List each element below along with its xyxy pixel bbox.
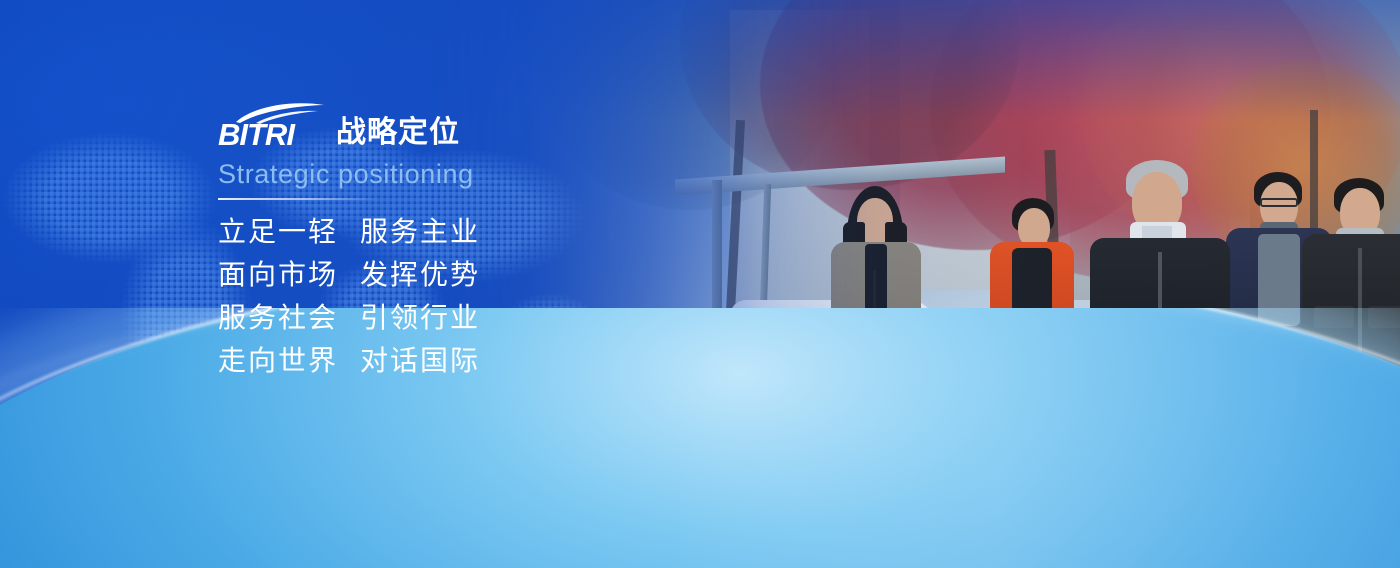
slogan-right: 引领行业 [360, 304, 480, 332]
slogan-left: 立足一轻 [218, 218, 360, 246]
slogan-right: 发挥优势 [360, 261, 480, 289]
arc-bright-highlight [0, 308, 1400, 568]
bitri-logo: BITRI [218, 104, 322, 150]
banner-text-block: BITRI 战略定位 Strategic positioning 立足一轻 服务… [218, 104, 638, 375]
brand-row: BITRI 战略定位 [218, 104, 638, 150]
slogan-left: 面向市场 [218, 261, 360, 289]
photo-top-fade [430, 0, 1400, 120]
bitri-strategic-positioning-banner: BITRI 战略定位 Strategic positioning 立足一轻 服务… [0, 0, 1400, 568]
slogan-line: 走向世界 对话国际 [218, 347, 638, 375]
subtitle-english: Strategic positioning [218, 160, 638, 190]
slogan-left: 走向世界 [218, 347, 360, 375]
slogan-line: 服务社会 引领行业 [218, 304, 638, 332]
slogan-line: 立足一轻 服务主业 [218, 218, 638, 246]
slogan-list: 立足一轻 服务主业 面向市场 发挥优势 服务社会 引领行业 走向世界 对话国际 [218, 218, 638, 375]
slogan-line: 面向市场 发挥优势 [218, 261, 638, 289]
bitri-logo-text: BITRI [218, 119, 294, 150]
slogan-left: 服务社会 [218, 304, 360, 332]
bottom-light-arc [0, 308, 1400, 568]
headline-chinese: 战略定位 [336, 118, 460, 150]
slogan-right: 服务主业 [360, 218, 480, 246]
slogan-right: 对话国际 [360, 347, 480, 375]
title-divider [218, 198, 378, 200]
